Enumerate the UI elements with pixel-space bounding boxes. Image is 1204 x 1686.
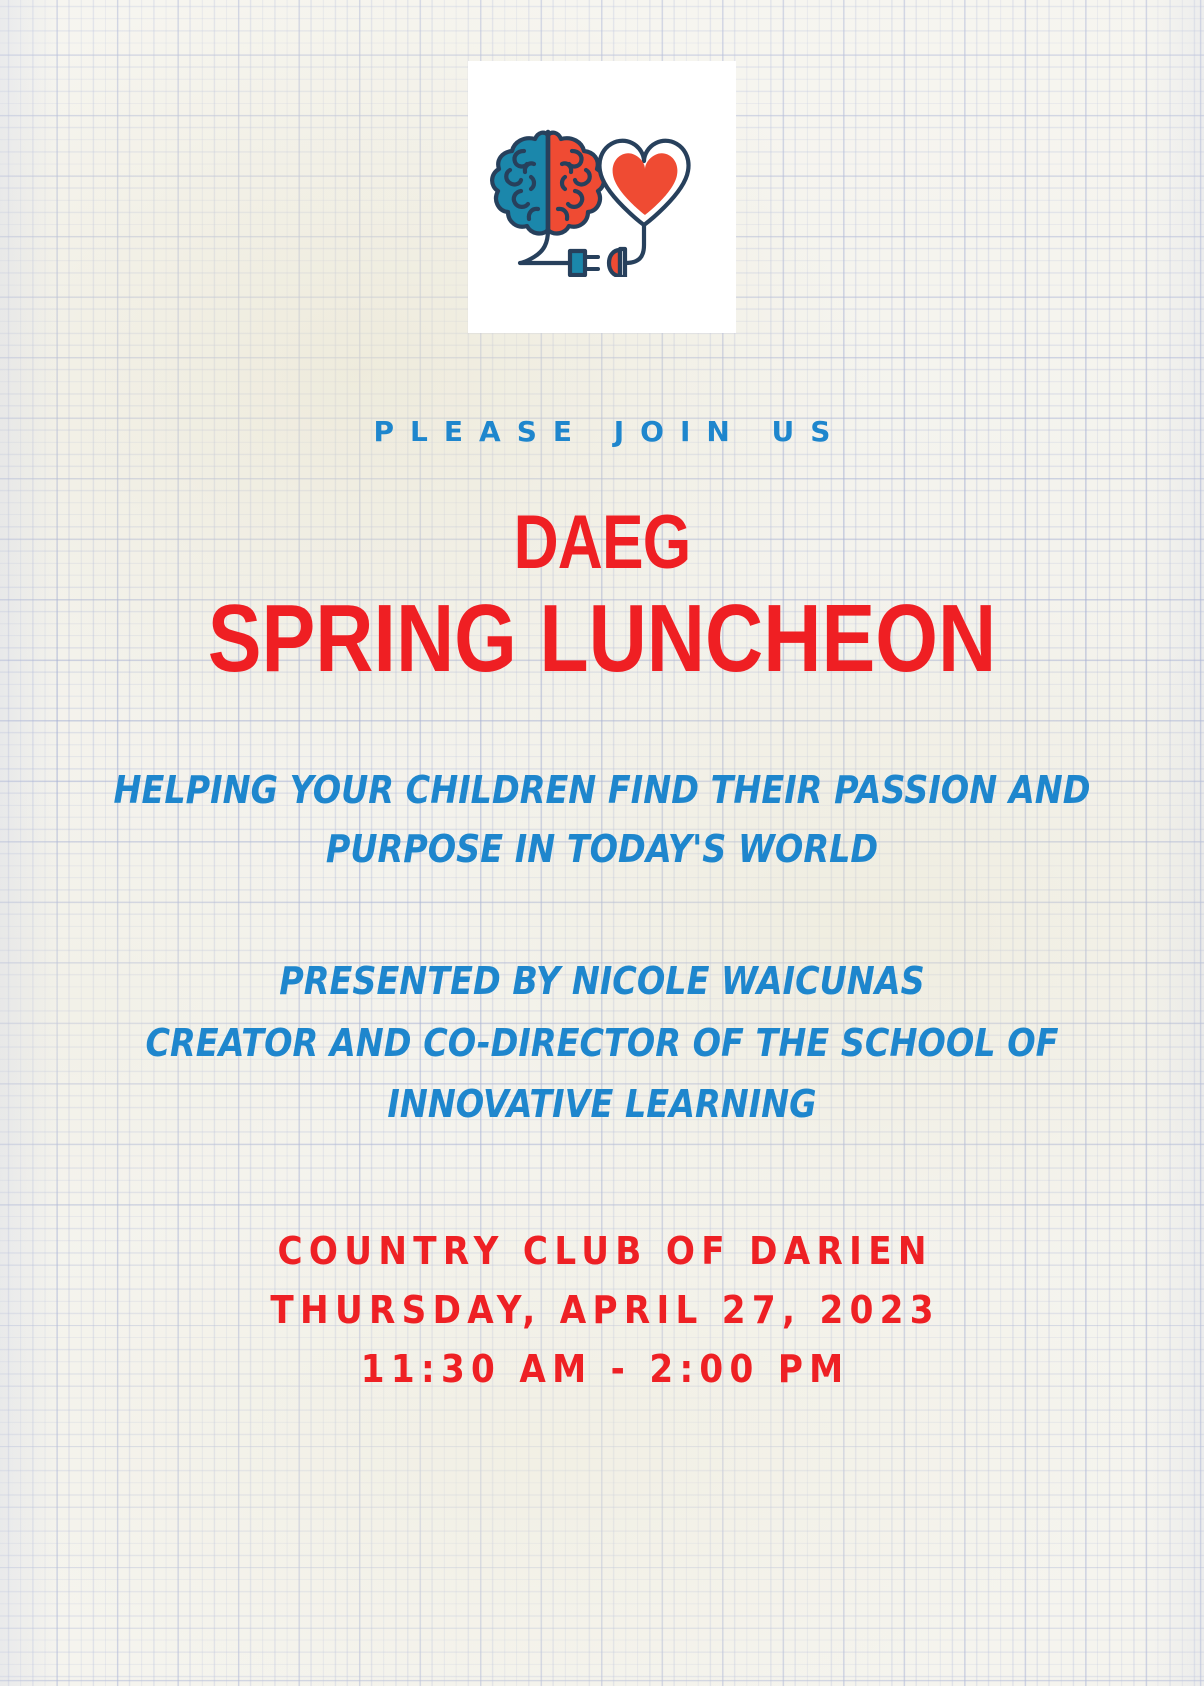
logo-container	[468, 61, 736, 333]
event-venue: COUNTRY CLUB OF DARIEN	[60, 1222, 1144, 1281]
event-details-block: COUNTRY CLUB OF DARIEN THURSDAY, APRIL 2…	[0, 1222, 1204, 1399]
presenter-block: PRESENTED BY NICOLE WAICUNAS CREATOR AND…	[0, 951, 1204, 1136]
brain-heart-plug-logo-icon	[484, 117, 720, 277]
tagline-block: HELPING YOUR CHILDREN FIND THEIR PASSION…	[0, 761, 1204, 879]
presenter-name-line: PRESENTED BY NICOLE WAICUNAS	[72, 951, 1132, 1013]
event-date: THURSDAY, APRIL 27, 2023	[60, 1281, 1144, 1340]
page-title: DAEG SPRING LUNCHEON	[0, 505, 1204, 690]
flyer-content: PLEASE JOIN US DAEG SPRING LUNCHEON HELP…	[0, 0, 1204, 1686]
title-line-2: SPRING LUNCHEON	[96, 589, 1107, 690]
tagline-line-1: HELPING YOUR CHILDREN FIND THEIR PASSION…	[72, 761, 1132, 820]
presenter-title-line-1: CREATOR AND CO-DIRECTOR OF THE SCHOOL OF	[72, 1013, 1132, 1075]
tagline-line-2: PURPOSE IN TODAY'S WORLD	[72, 820, 1132, 879]
event-flyer: PLEASE JOIN US DAEG SPRING LUNCHEON HELP…	[0, 0, 1204, 1686]
presenter-title-line-2: INNOVATIVE LEARNING	[72, 1074, 1132, 1136]
event-time: 11:30 AM - 2:00 PM	[60, 1340, 1144, 1399]
title-line-1: DAEG	[108, 505, 1095, 581]
eyebrow-text: PLEASE JOIN US	[0, 417, 1204, 448]
